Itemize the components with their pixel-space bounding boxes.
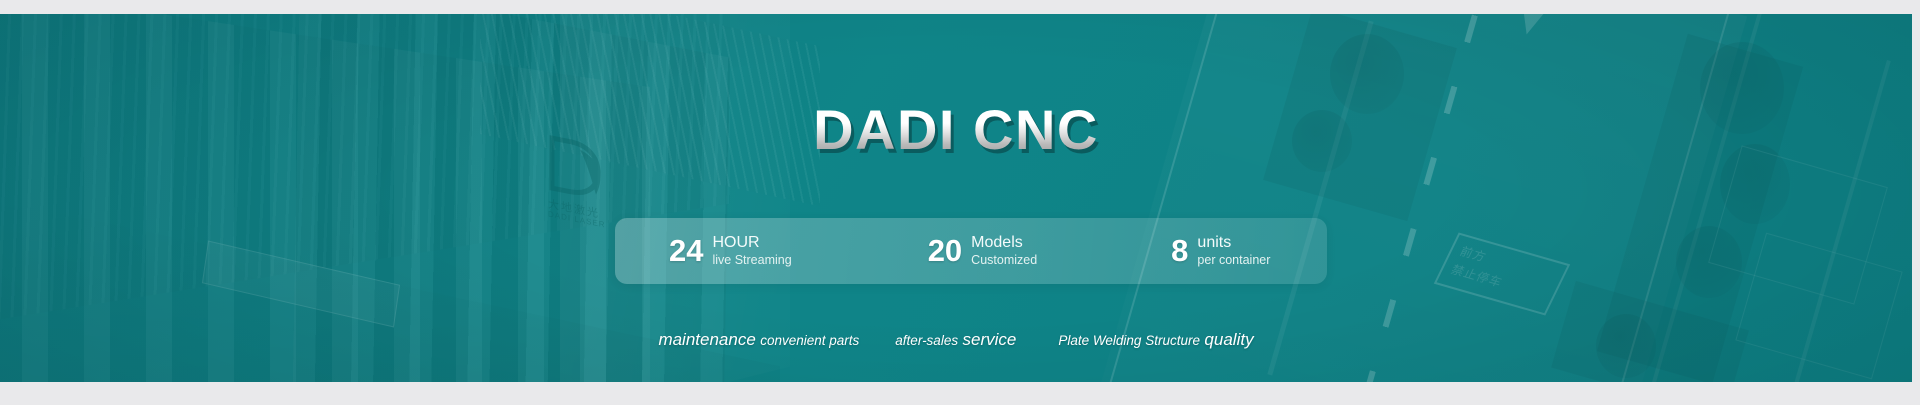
page-title: DADI CNC xyxy=(0,102,1912,158)
tagline-trail: convenient parts xyxy=(760,333,859,348)
stat-item-hours: 24 HOUR live Streaming xyxy=(669,234,792,269)
banner-content: DADI CNC 24 HOUR live Streaming 20 Model… xyxy=(0,14,1912,382)
tagline-row: maintenance convenient parts after-sales… xyxy=(0,330,1912,350)
stat-item-units: 8 units per container xyxy=(1171,234,1270,269)
tagline-plate-welding: Plate Welding Structure quality xyxy=(1058,330,1253,350)
tagline-lead: after-sales xyxy=(895,333,958,348)
stat-label: HOUR xyxy=(712,234,791,252)
stats-panel: 24 HOUR live Streaming 20 Models Customi… xyxy=(615,218,1327,284)
tagline-lead: maintenance xyxy=(658,330,755,349)
stat-sublabel: per container xyxy=(1197,252,1270,268)
tagline-trail: quality xyxy=(1204,330,1253,349)
stat-sublabel: Customized xyxy=(971,252,1037,268)
tagline-maintenance: maintenance convenient parts xyxy=(658,330,859,350)
tagline-lead: Plate Welding Structure xyxy=(1058,333,1200,348)
stat-label: Models xyxy=(971,234,1037,252)
tagline-trail: service xyxy=(963,330,1017,349)
stat-label: units xyxy=(1197,234,1270,252)
stat-number: 24 xyxy=(669,235,703,266)
stat-sublabel: live Streaming xyxy=(712,252,791,268)
stat-number: 8 xyxy=(1171,235,1188,266)
stat-number: 20 xyxy=(928,235,962,266)
hero-banner: 大地激光 DADI LASER 前方 禁止停车 xyxy=(0,14,1912,382)
page-root: 大地激光 DADI LASER 前方 禁止停车 xyxy=(0,0,1920,405)
stat-item-models: 20 Models Customized xyxy=(928,234,1037,269)
tagline-after-sales: after-sales service xyxy=(895,330,1016,350)
